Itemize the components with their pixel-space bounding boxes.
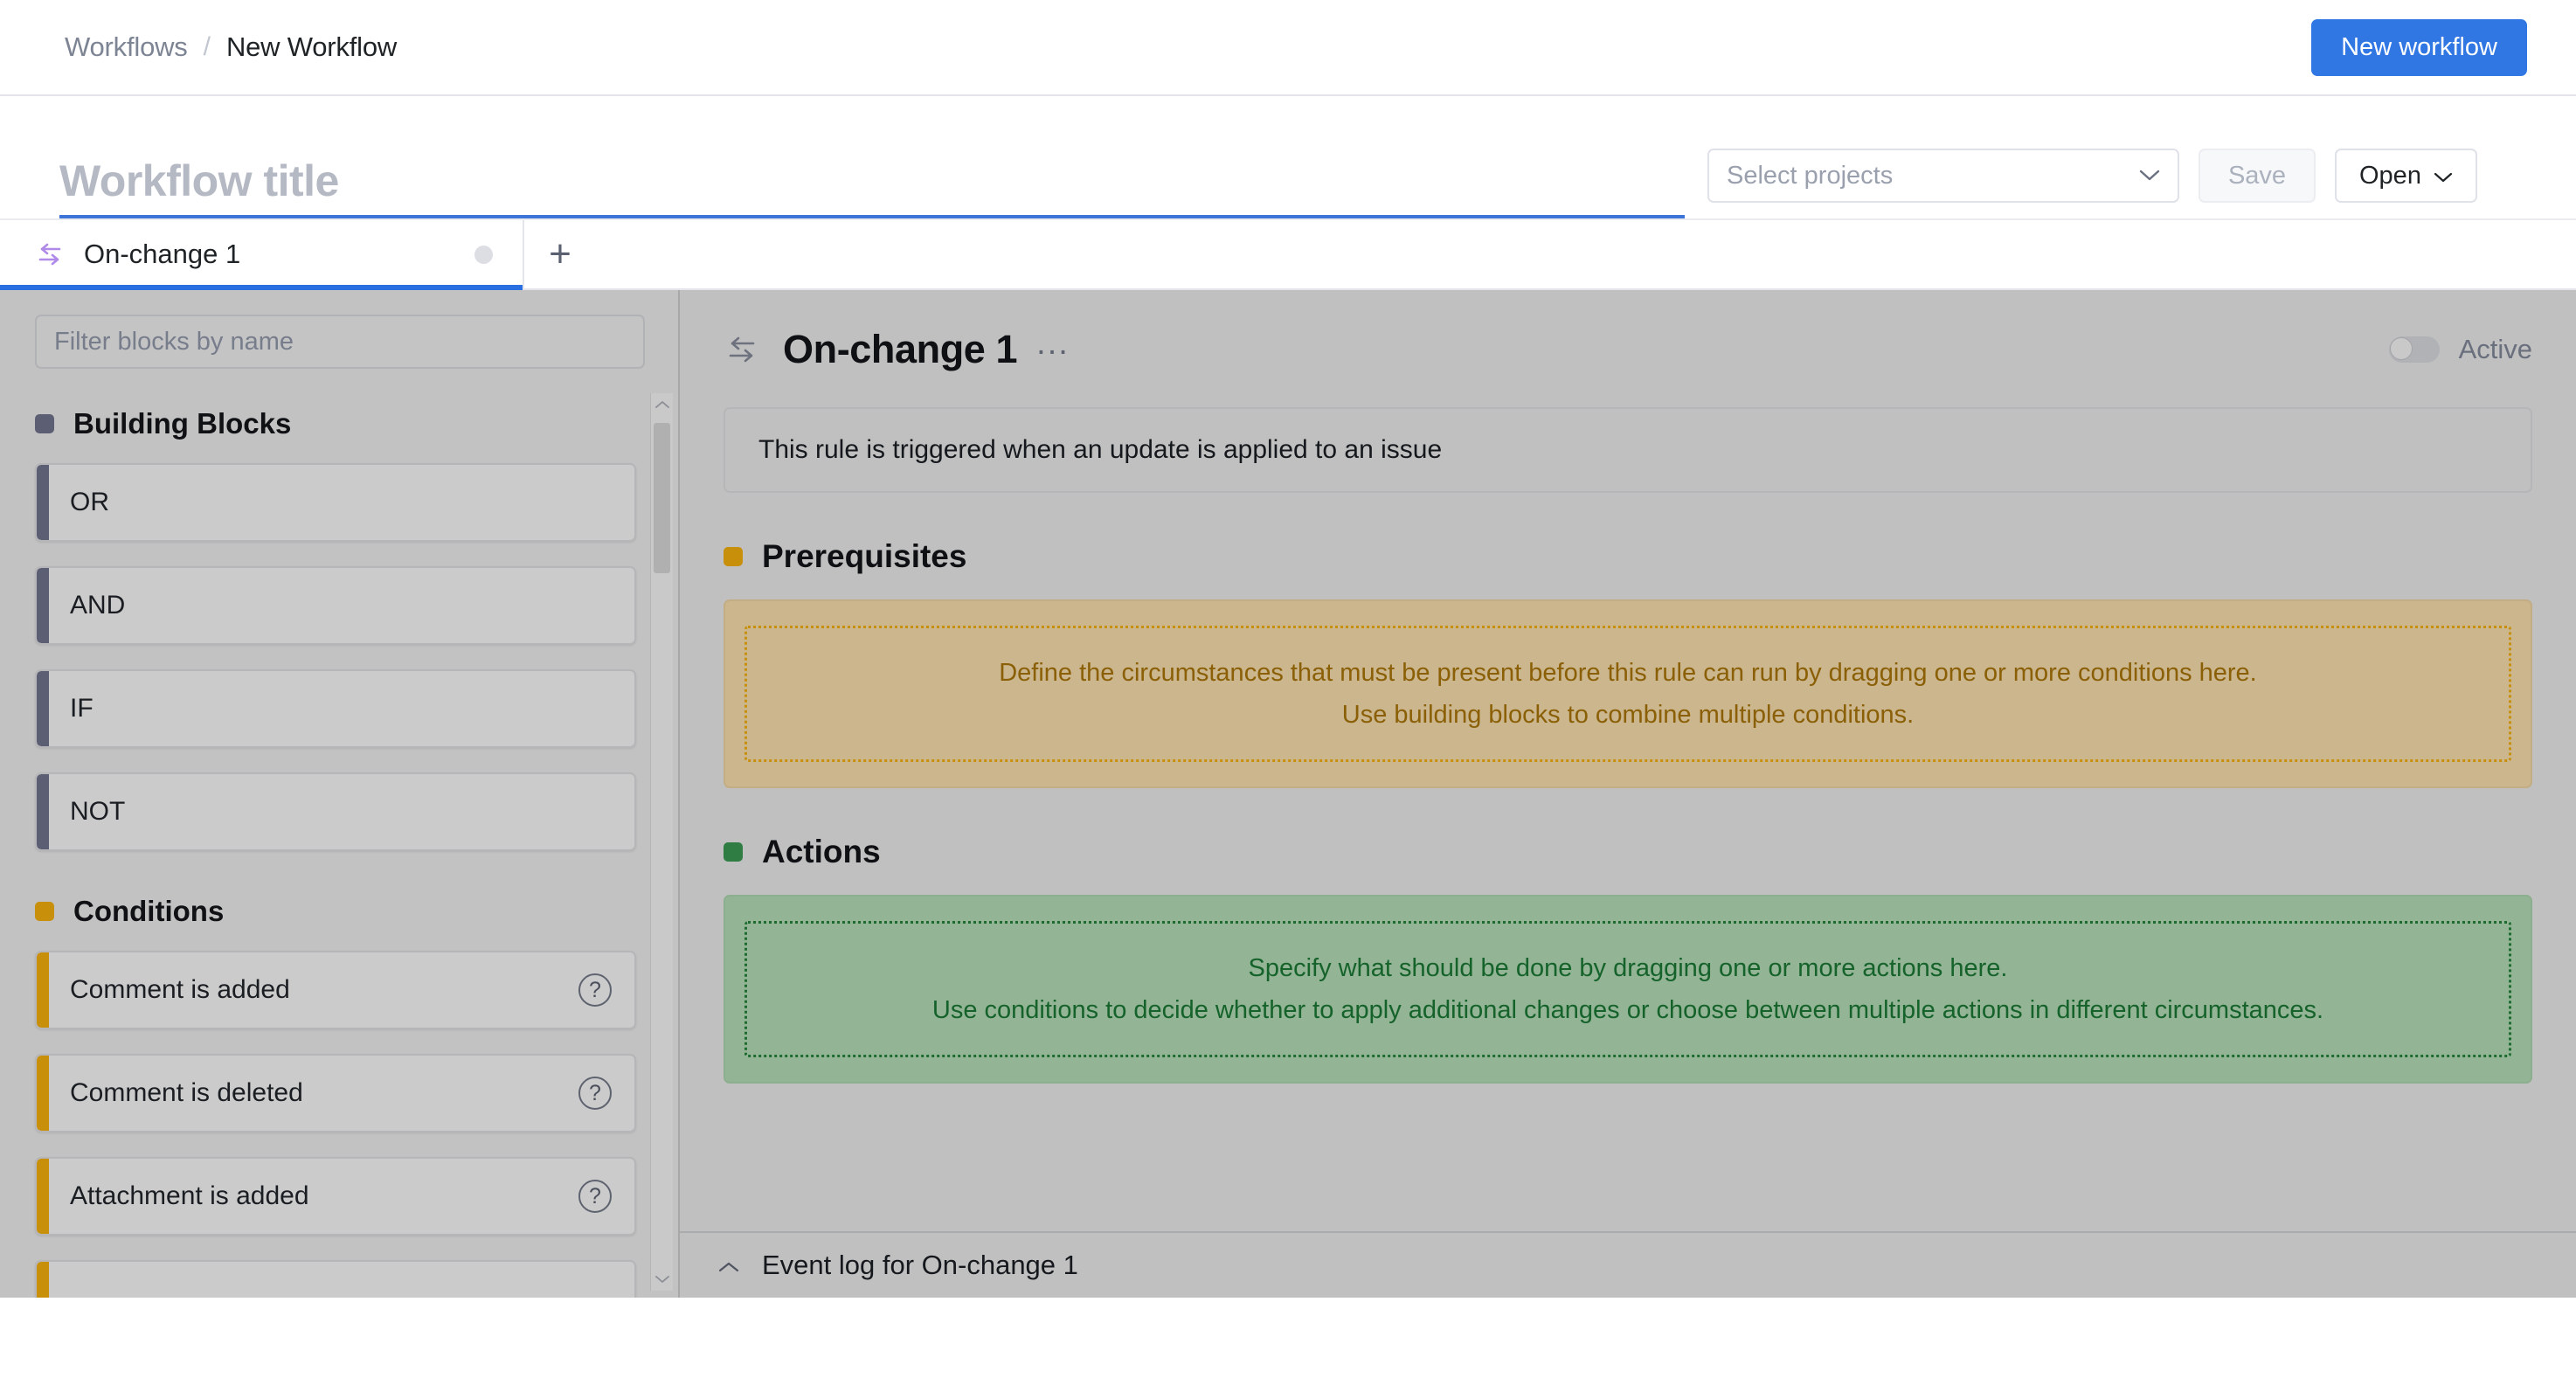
group-marker-conditions xyxy=(35,902,54,921)
chevron-down-icon xyxy=(2434,162,2453,190)
block-label: Comment is deleted xyxy=(70,1078,578,1108)
active-toggle-label: Active xyxy=(2459,334,2532,365)
select-projects-placeholder: Select projects xyxy=(1727,162,2139,190)
block-label: OR xyxy=(70,488,612,517)
open-button-label: Open xyxy=(2359,162,2421,190)
palette-group-gap xyxy=(35,876,636,895)
actions-hint-line-1: Specify what should be done by dragging … xyxy=(1249,950,2008,987)
actions-hint-line-2: Use conditions to decide whether to appl… xyxy=(932,992,2323,1028)
title-row-controls: Select projects Save Open xyxy=(1707,149,2477,218)
palette-condition-comment-is-added[interactable]: Comment is added ? xyxy=(35,951,636,1029)
palette-group-conditions-header: Conditions xyxy=(35,895,636,928)
help-icon[interactable]: ? xyxy=(578,1077,612,1110)
chevron-up-icon xyxy=(718,1254,739,1277)
workflow-workspace: Building Blocks OR AND IF NOT xyxy=(0,290,2576,1298)
on-change-arrows-icon xyxy=(35,239,65,269)
add-rule-tab-button[interactable]: + xyxy=(524,220,596,288)
palette-block-and[interactable]: AND xyxy=(35,566,636,645)
top-bar: Workflows / New Workflow New workflow xyxy=(0,0,2576,96)
palette-condition-attachment-is-added[interactable]: Attachment is added ? xyxy=(35,1157,636,1236)
section-marker-prerequisites xyxy=(724,547,743,566)
block-label: Comment is added xyxy=(70,975,578,1005)
new-workflow-button[interactable]: New workflow xyxy=(2311,19,2527,76)
block-label: IF xyxy=(70,694,612,724)
palette-block-not[interactable]: NOT xyxy=(35,772,636,851)
scroll-up-arrow-icon[interactable] xyxy=(651,393,673,416)
active-toggle[interactable] xyxy=(2389,336,2440,363)
block-accent-bar xyxy=(37,952,49,1028)
section-title-actions: Actions xyxy=(762,834,881,870)
event-log-toggle-bar[interactable]: Event log for On-change 1 xyxy=(680,1231,2576,1298)
section-title-prerequisites: Prerequisites xyxy=(762,538,966,575)
rule-tab-strip: On-change 1 + xyxy=(0,218,2576,290)
block-accent-bar xyxy=(37,1159,49,1234)
filter-blocks-input[interactable] xyxy=(35,315,645,369)
group-title-conditions: Conditions xyxy=(73,895,224,928)
breadcrumb: Workflows / New Workflow xyxy=(65,31,397,63)
block-accent-bar xyxy=(37,671,49,746)
block-label: AND xyxy=(70,591,612,620)
tab-label: On-change 1 xyxy=(84,239,455,270)
block-accent-bar xyxy=(37,774,49,849)
palette-condition-partial[interactable] xyxy=(35,1260,636,1298)
group-marker-building-blocks xyxy=(35,414,54,433)
workflow-title-row: Select projects Save Open xyxy=(0,96,2576,218)
scroll-down-arrow-icon[interactable] xyxy=(651,1268,673,1291)
rule-header: On-change 1 ... Active xyxy=(724,327,2532,372)
block-accent-bar xyxy=(37,1262,49,1298)
workflow-title-field-wrap xyxy=(59,156,1685,218)
help-icon[interactable]: ? xyxy=(578,1180,612,1213)
rule-editor-body: On-change 1 ... Active This rule is trig… xyxy=(680,290,2576,1231)
block-label: NOT xyxy=(70,797,612,827)
on-change-arrows-icon xyxy=(724,331,760,368)
prerequisites-dropzone[interactable]: Define the circumstances that must be pr… xyxy=(724,599,2532,788)
palette-scrollbar-thumb[interactable] xyxy=(654,423,670,573)
block-accent-bar xyxy=(37,465,49,540)
save-button[interactable]: Save xyxy=(2199,149,2316,203)
chevron-down-icon xyxy=(2139,165,2160,186)
prerequisites-dropzone-inner[interactable]: Define the circumstances that must be pr… xyxy=(744,626,2511,762)
palette-condition-comment-is-deleted[interactable]: Comment is deleted ? xyxy=(35,1054,636,1132)
breadcrumb-separator: / xyxy=(204,32,211,62)
section-header-actions: Actions xyxy=(724,834,2532,870)
rule-editor-pane: On-change 1 ... Active This rule is trig… xyxy=(680,290,2576,1298)
palette-block-or[interactable]: OR xyxy=(35,463,636,542)
actions-dropzone[interactable]: Specify what should be done by dragging … xyxy=(724,895,2532,1084)
filter-blocks-wrap xyxy=(0,290,678,369)
section-header-prerequisites: Prerequisites xyxy=(724,538,2532,575)
toggle-knob xyxy=(2390,337,2413,360)
block-accent-bar xyxy=(37,568,49,643)
group-title-building-blocks: Building Blocks xyxy=(73,407,291,440)
palette-group-building-blocks-header: Building Blocks xyxy=(35,407,636,440)
block-label: Attachment is added xyxy=(70,1181,578,1211)
section-marker-actions xyxy=(724,842,743,862)
block-accent-bar xyxy=(37,1056,49,1131)
tab-on-change-1[interactable]: On-change 1 xyxy=(0,220,524,288)
breadcrumb-current: New Workflow xyxy=(226,31,397,63)
palette-scrollbar[interactable] xyxy=(650,393,673,1291)
block-palette: Building Blocks OR AND IF NOT xyxy=(0,290,680,1298)
palette-scroll-area: Building Blocks OR AND IF NOT xyxy=(0,369,678,1298)
prerequisites-hint-line-1: Define the circumstances that must be pr… xyxy=(999,654,2257,691)
workflow-title-input[interactable] xyxy=(59,156,1685,206)
breadcrumb-link-workflows[interactable]: Workflows xyxy=(65,31,188,63)
actions-dropzone-inner[interactable]: Specify what should be done by dragging … xyxy=(744,921,2511,1057)
active-toggle-group[interactable]: Active xyxy=(2389,334,2532,365)
palette-block-if[interactable]: IF xyxy=(35,669,636,748)
prerequisites-hint-line-2: Use building blocks to combine multiple … xyxy=(1342,696,1914,733)
rule-title[interactable]: On-change 1 xyxy=(783,327,1017,372)
tab-status-dot xyxy=(474,246,493,264)
trigger-description-banner: This rule is triggered when an update is… xyxy=(724,407,2532,493)
rule-menu-button[interactable]: ... xyxy=(1036,325,1070,363)
event-log-label: Event log for On-change 1 xyxy=(762,1250,1078,1281)
select-projects-dropdown[interactable]: Select projects xyxy=(1707,149,2179,203)
help-icon[interactable]: ? xyxy=(578,973,612,1007)
open-button[interactable]: Open xyxy=(2335,149,2477,203)
